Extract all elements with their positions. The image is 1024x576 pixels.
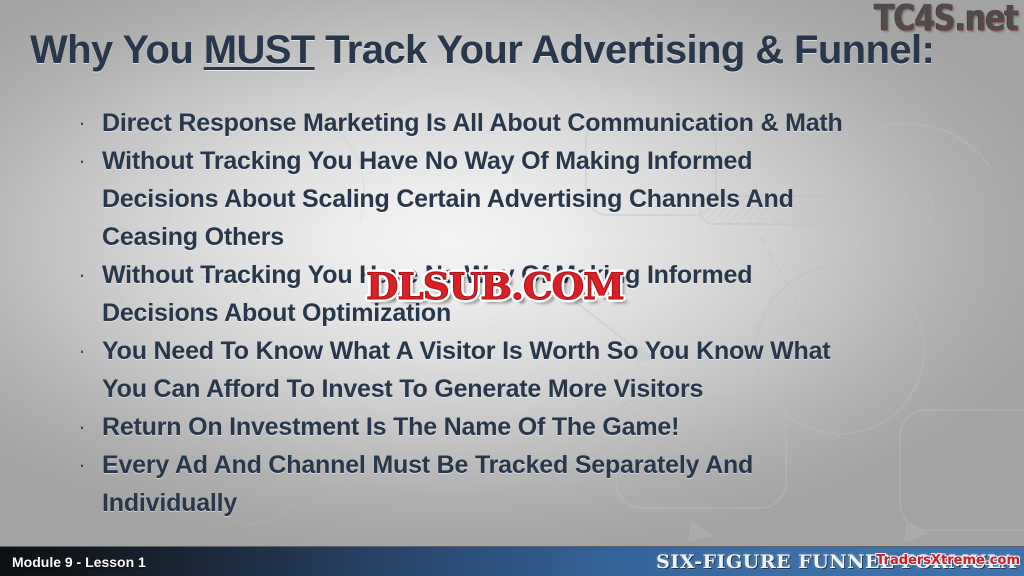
watermark-dlsub: DLSUB.COM [366,266,624,308]
bullet-indent-spacer [62,370,102,408]
title-emphasis-must: MUST [204,28,315,72]
slide-footer-bar: Module 9 - Lesson 1 SIX-FIGURE FUNNEL FO… [0,546,1024,576]
bullet-indent-spacer [62,180,102,218]
bullet-text: Return On Investment Is The Name Of The … [102,408,1002,446]
bullet-dot-icon: · [62,142,102,180]
bullet-item-continuation: Ceasing Others [62,218,1002,256]
slide-title: Why You MUST Track Your Advertising & Fu… [30,28,1010,73]
bullet-dot-icon: · [62,104,102,142]
slide-canvas: Why You MUST Track Your Advertising & Fu… [0,0,1024,576]
bullet-dot-icon: · [62,332,102,370]
bullet-indent-spacer [62,218,102,256]
bullet-text: Direct Response Marketing Is All About C… [102,104,1002,142]
bullet-dot-icon: · [62,408,102,446]
bullet-list: · Direct Response Marketing Is All About… [62,104,1002,522]
bullet-text: Without Tracking You Have No Way Of Maki… [102,142,1002,180]
watermark-tradersxtreme: TradersXtreme.com [876,553,1020,568]
watermark-tc4s: TC4S.net [875,0,1018,39]
title-part-before: Why You [30,28,204,72]
bullet-item-continuation: Individually [62,484,1002,522]
bullet-text: Ceasing Others [102,218,1002,256]
bullet-item: · Return On Investment Is The Name Of Th… [62,408,1002,446]
title-part-after: Track Your Advertising & Funnel: [315,28,935,72]
bullet-dot-icon: · [62,256,102,294]
bullet-text: Individually [102,484,1002,522]
bullet-item-continuation: You Can Afford To Invest To Generate Mor… [62,370,1002,408]
bullet-text: Decisions About Scaling Certain Advertis… [102,180,1002,218]
bullet-indent-spacer [62,484,102,522]
footer-lesson-label: Module 9 - Lesson 1 [12,547,146,576]
bullet-dot-icon: · [62,446,102,484]
bullet-indent-spacer [62,294,102,332]
bullet-item-continuation: Decisions About Scaling Certain Advertis… [62,180,1002,218]
bullet-item: · Direct Response Marketing Is All About… [62,104,1002,142]
bullet-item: · Without Tracking You Have No Way Of Ma… [62,142,1002,180]
bullet-item: · You Need To Know What A Visitor Is Wor… [62,332,1002,370]
bullet-text: You Need To Know What A Visitor Is Worth… [102,332,1002,370]
bullet-text: You Can Afford To Invest To Generate Mor… [102,370,1002,408]
bullet-item: · Every Ad And Channel Must Be Tracked S… [62,446,1002,484]
bullet-text: Every Ad And Channel Must Be Tracked Sep… [102,446,1002,484]
